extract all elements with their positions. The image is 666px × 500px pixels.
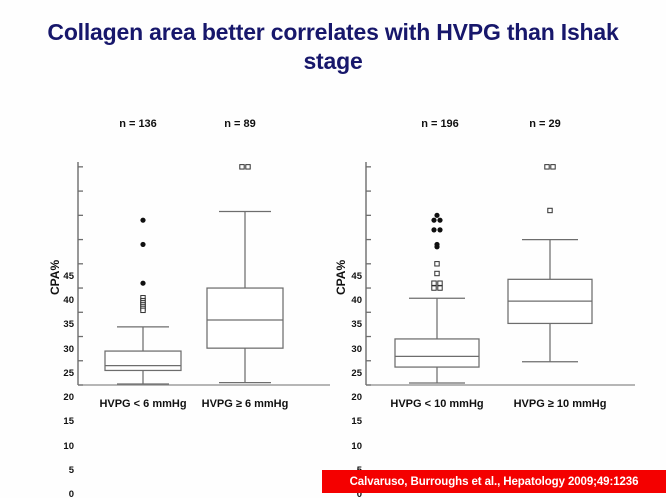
outlier-point-filled xyxy=(434,213,439,218)
y-axis-tick-label: 20 xyxy=(344,392,362,403)
n-label-group-2: n = 29 xyxy=(505,118,585,130)
outlier-point-open xyxy=(438,286,442,290)
boxplot-svg-hvpg-6 xyxy=(40,110,340,430)
outlier-point-filled xyxy=(431,227,436,232)
outlier-point-open xyxy=(545,165,549,169)
n-label-group-1: n = 136 xyxy=(98,118,178,130)
outlier-point-filled xyxy=(140,242,145,247)
y-axis-tick-label: 5 xyxy=(56,465,74,476)
chart-panel-hvpg-10: n = 196 n = 29 CPA% HVPG < 10 mmHg HVPG … xyxy=(330,110,650,430)
outlier-point-open xyxy=(432,286,436,290)
outlier-point-filled xyxy=(437,218,442,223)
x-axis-label-group-1: HVPG < 6 mmHg xyxy=(88,398,198,410)
x-axis-label-group-1: HVPG < 10 mmHg xyxy=(372,398,502,410)
y-axis-tick-label: 25 xyxy=(344,368,362,379)
y-axis-tick-label: 15 xyxy=(344,416,362,427)
outlier-point-open xyxy=(240,165,244,169)
y-axis-tick-label: 15 xyxy=(56,416,74,427)
y-axis-tick-label: 35 xyxy=(56,319,74,330)
box-iqr xyxy=(207,288,283,348)
y-axis-tick-label: 25 xyxy=(56,368,74,379)
page-title: Collagen area better correlates with HVP… xyxy=(28,18,638,77)
y-axis-tick-label: 0 xyxy=(56,489,74,500)
y-axis-tick-label: 10 xyxy=(56,441,74,452)
outlier-point-filled xyxy=(140,281,145,286)
y-axis-tick-label: 10 xyxy=(344,441,362,452)
y-axis-tick-label: 35 xyxy=(344,319,362,330)
slide-canvas: Collagen area better correlates with HVP… xyxy=(0,0,666,498)
y-axis-tick-label: 40 xyxy=(344,295,362,306)
chart-panel-hvpg-6: n = 136 n = 89 CPA% HVPG < 6 mmHg HVPG ≥… xyxy=(40,110,340,430)
y-axis-tick-label: 45 xyxy=(344,271,362,282)
n-label-group-2: n = 89 xyxy=(200,118,280,130)
box-iqr xyxy=(395,339,479,367)
outlier-point-open xyxy=(432,281,436,285)
outlier-point-filled xyxy=(437,227,442,232)
outlier-point-open xyxy=(551,165,555,169)
outlier-point-filled xyxy=(431,218,436,223)
citation-text: Calvaruso, Burroughs et al., Hepatology … xyxy=(350,476,639,488)
y-axis-tick-label: 30 xyxy=(344,344,362,355)
outlier-point-open xyxy=(548,208,552,212)
outlier-point-filled xyxy=(434,244,439,249)
outlier-point-filled xyxy=(140,218,145,223)
y-axis-tick-label: 20 xyxy=(56,392,74,403)
x-axis-label-group-2: HVPG ≥ 10 mmHg xyxy=(495,398,625,410)
y-axis-tick-label: 30 xyxy=(56,344,74,355)
n-label-group-1: n = 196 xyxy=(400,118,480,130)
outlier-point-open xyxy=(435,262,439,266)
x-axis-label-group-2: HVPG ≥ 6 mmHg xyxy=(190,398,300,410)
citation-banner: Calvaruso, Burroughs et al., Hepatology … xyxy=(322,470,666,493)
y-axis-tick-label: 40 xyxy=(56,295,74,306)
outlier-point-open xyxy=(435,271,439,275)
outlier-point-open xyxy=(246,165,250,169)
boxplot-svg-hvpg-10 xyxy=(330,110,650,430)
y-axis-tick-label: 45 xyxy=(56,271,74,282)
outlier-point-open xyxy=(141,308,145,312)
box-iqr xyxy=(105,351,181,370)
outlier-point-open xyxy=(438,281,442,285)
